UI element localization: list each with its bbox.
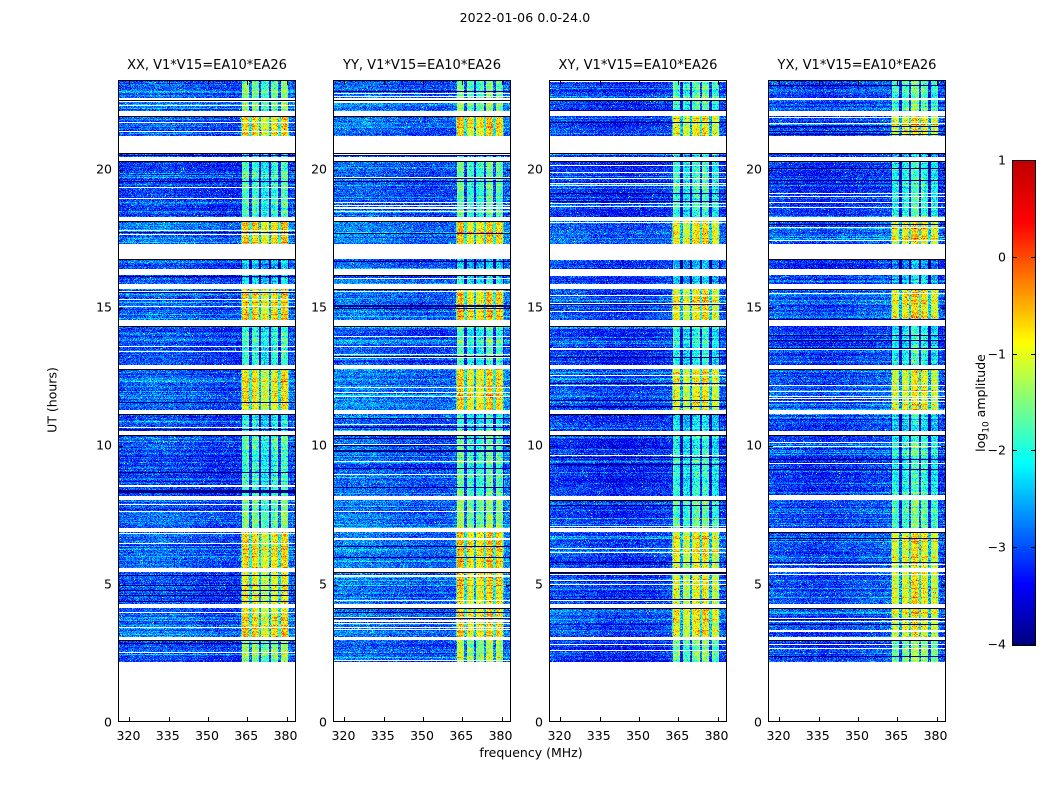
- y-tick-label-xx-3: 15: [86, 299, 112, 314]
- y-tick-label-yx-3: 15: [736, 299, 762, 314]
- y-tick-label-xx-0: 0: [86, 715, 112, 730]
- y-tick-label-xy-0: 0: [517, 715, 543, 730]
- y-tick-right-xx-2: [291, 446, 295, 447]
- x-tick-label-xy-3: 365: [665, 728, 689, 743]
- colorbar-label-main: log: [973, 433, 988, 452]
- y-tick-right-yy-1: [506, 585, 510, 586]
- x-tick-label-yy-2: 350: [410, 728, 434, 743]
- panel-xy: XY, V1*V15=EA10*EA26: [549, 80, 727, 722]
- y-tick-yy-1: [334, 585, 338, 586]
- y-tick-yx-4: [769, 170, 773, 171]
- x-tick-top-xx-0: [129, 81, 130, 85]
- x-tick-xx-4: [287, 717, 288, 721]
- y-tick-right-yx-2: [941, 446, 945, 447]
- y-tick-right-yx-4: [941, 170, 945, 171]
- colorbar-tick-right-3: [1031, 354, 1036, 355]
- y-tick-right-yy-4: [506, 170, 510, 171]
- x-tick-top-xy-1: [600, 81, 601, 85]
- x-tick-yy-1: [384, 717, 385, 721]
- x-tick-top-yx-4: [937, 81, 938, 85]
- x-tick-label-xx-1: 335: [156, 728, 180, 743]
- x-tick-label-yy-0: 320: [332, 728, 356, 743]
- y-tick-yx-1: [769, 585, 773, 586]
- colorbar-tick-label-0: −4: [988, 637, 1006, 652]
- y-tick-right-xy-2: [722, 446, 726, 447]
- y-tick-label-yy-4: 20: [301, 161, 327, 176]
- x-tick-top-yy-1: [384, 81, 385, 85]
- panel-title-xx: XX, V1*V15=EA10*EA26: [118, 58, 296, 73]
- x-tick-xy-0: [560, 717, 561, 721]
- x-axis-label: frequency (MHz): [479, 745, 582, 760]
- x-tick-yx-3: [897, 717, 898, 721]
- y-tick-right-xy-1: [722, 585, 726, 586]
- x-tick-label-yy-3: 365: [449, 728, 473, 743]
- x-tick-top-yx-0: [779, 81, 780, 85]
- x-tick-top-xy-0: [560, 81, 561, 85]
- x-tick-top-xx-1: [169, 81, 170, 85]
- x-tick-label-xy-0: 320: [548, 728, 572, 743]
- y-tick-label-xx-4: 20: [86, 161, 112, 176]
- x-tick-label-xx-3: 365: [234, 728, 258, 743]
- y-tick-xx-4: [119, 170, 123, 171]
- x-tick-top-xy-3: [678, 81, 679, 85]
- panel-title-yx: YX, V1*V15=EA10*EA26: [768, 58, 946, 73]
- x-tick-label-yx-3: 365: [884, 728, 908, 743]
- colorbar[interactable]: −4−3−2−101: [1012, 160, 1036, 646]
- y-tick-right-xy-3: [722, 308, 726, 309]
- x-tick-label-xy-2: 350: [626, 728, 650, 743]
- colorbar-label-subscript: 10: [981, 421, 991, 432]
- y-tick-xx-1: [119, 585, 123, 586]
- y-tick-label-xy-3: 15: [517, 299, 543, 314]
- colorbar-tick-label-4: 0: [998, 249, 1006, 264]
- colorbar-tick-right-2: [1031, 450, 1036, 451]
- colorbar-tick-0: [1012, 644, 1017, 645]
- x-tick-xx-1: [169, 717, 170, 721]
- x-tick-yx-4: [937, 717, 938, 721]
- x-tick-yy-4: [502, 717, 503, 721]
- y-tick-label-xx-2: 10: [86, 438, 112, 453]
- x-tick-yy-0: [344, 717, 345, 721]
- y-tick-label-yx-0: 0: [736, 715, 762, 730]
- y-tick-label-yx-4: 20: [736, 161, 762, 176]
- colorbar-tick-right-5: [1031, 160, 1036, 161]
- x-tick-label-yx-0: 320: [767, 728, 791, 743]
- colorbar-tick-3: [1012, 354, 1017, 355]
- colorbar-tick-right-1: [1031, 547, 1036, 548]
- x-tick-yy-3: [462, 717, 463, 721]
- colorbar-label: log10 amplitude: [973, 354, 992, 452]
- x-tick-xy-4: [718, 717, 719, 721]
- y-tick-label-yy-0: 0: [301, 715, 327, 730]
- panel-title-xy: XY, V1*V15=EA10*EA26: [549, 58, 727, 73]
- x-tick-top-xx-3: [247, 81, 248, 85]
- y-tick-label-yy-2: 10: [301, 438, 327, 453]
- x-tick-xy-2: [639, 717, 640, 721]
- x-tick-label-xx-4: 380: [274, 728, 298, 743]
- y-tick-xx-3: [119, 308, 123, 309]
- x-tick-top-xx-4: [287, 81, 288, 85]
- x-tick-yy-2: [423, 717, 424, 721]
- x-tick-label-yx-1: 335: [806, 728, 830, 743]
- x-tick-label-yx-2: 350: [845, 728, 869, 743]
- y-tick-label-yx-1: 5: [736, 576, 762, 591]
- panel-title-yy: YY, V1*V15=EA10*EA26: [333, 58, 511, 73]
- y-tick-right-xx-1: [291, 585, 295, 586]
- y-tick-yy-2: [334, 446, 338, 447]
- y-tick-label-yy-1: 5: [301, 576, 327, 591]
- x-tick-top-xx-2: [208, 81, 209, 85]
- y-tick-right-yx-3: [941, 308, 945, 309]
- x-tick-top-xy-4: [718, 81, 719, 85]
- y-tick-right-xy-4: [722, 170, 726, 171]
- colorbar-gradient: [1012, 160, 1036, 646]
- x-tick-top-yy-4: [502, 81, 503, 85]
- colorbar-tick-right-4: [1031, 257, 1036, 258]
- panel-yy: YY, V1*V15=EA10*EA26: [333, 80, 511, 722]
- y-axis-label: UT (hours): [45, 367, 60, 433]
- x-tick-label-xy-1: 335: [587, 728, 611, 743]
- x-tick-top-yy-2: [423, 81, 424, 85]
- x-tick-top-xy-2: [639, 81, 640, 85]
- x-tick-label-xy-4: 380: [705, 728, 729, 743]
- panel-xx: XX, V1*V15=EA10*EA26: [118, 80, 296, 722]
- y-tick-yy-4: [334, 170, 338, 171]
- y-tick-label-xy-2: 10: [517, 438, 543, 453]
- x-tick-yx-0: [779, 717, 780, 721]
- x-tick-label-yx-4: 380: [924, 728, 948, 743]
- x-tick-top-yy-3: [462, 81, 463, 85]
- y-tick-yx-3: [769, 308, 773, 309]
- y-tick-yy-3: [334, 308, 338, 309]
- y-tick-xy-2: [550, 446, 554, 447]
- y-tick-right-xx-4: [291, 170, 295, 171]
- colorbar-tick-5: [1012, 160, 1017, 161]
- x-tick-xy-3: [678, 717, 679, 721]
- x-tick-top-yx-3: [897, 81, 898, 85]
- colorbar-tick-1: [1012, 547, 1017, 548]
- axes-yx[interactable]: [768, 80, 946, 722]
- y-tick-label-yx-2: 10: [736, 438, 762, 453]
- axes-xx[interactable]: [118, 80, 296, 722]
- x-tick-label-yy-1: 335: [371, 728, 395, 743]
- colorbar-tick-label-5: 1: [998, 153, 1006, 168]
- y-tick-xy-4: [550, 170, 554, 171]
- y-tick-xy-3: [550, 308, 554, 309]
- y-tick-yx-2: [769, 446, 773, 447]
- x-tick-top-yx-2: [858, 81, 859, 85]
- x-tick-xx-3: [247, 717, 248, 721]
- colorbar-tick-2: [1012, 450, 1017, 451]
- x-tick-yx-2: [858, 717, 859, 721]
- y-tick-xy-1: [550, 585, 554, 586]
- x-tick-xx-0: [129, 717, 130, 721]
- x-tick-top-yx-1: [819, 81, 820, 85]
- x-tick-top-yy-0: [344, 81, 345, 85]
- x-tick-xx-2: [208, 717, 209, 721]
- y-tick-label-xy-4: 20: [517, 161, 543, 176]
- figure-suptitle: 2022-01-06 0.0-24.0: [0, 10, 1050, 25]
- colorbar-tick-right-0: [1031, 644, 1036, 645]
- x-tick-xy-1: [600, 717, 601, 721]
- colorbar-tick-4: [1012, 257, 1017, 258]
- colorbar-label-tail: amplitude: [973, 354, 988, 421]
- axes-yy[interactable]: [333, 80, 511, 722]
- figure-canvas: 2022-01-06 0.0-24.0 XX, V1*V15=EA10*EA26…: [0, 0, 1050, 800]
- y-tick-label-xx-1: 5: [86, 576, 112, 591]
- axes-xy[interactable]: [549, 80, 727, 722]
- y-tick-right-yx-1: [941, 585, 945, 586]
- x-tick-label-xx-2: 350: [195, 728, 219, 743]
- x-tick-yx-1: [819, 717, 820, 721]
- panel-yx: YX, V1*V15=EA10*EA26: [768, 80, 946, 722]
- y-tick-right-yy-3: [506, 308, 510, 309]
- y-tick-right-xx-3: [291, 308, 295, 309]
- y-tick-right-yy-2: [506, 446, 510, 447]
- y-tick-xx-2: [119, 446, 123, 447]
- x-tick-label-yy-4: 380: [489, 728, 513, 743]
- y-tick-label-xy-1: 5: [517, 576, 543, 591]
- y-tick-label-yy-3: 15: [301, 299, 327, 314]
- colorbar-tick-label-1: −3: [988, 540, 1006, 555]
- x-tick-label-xx-0: 320: [117, 728, 141, 743]
